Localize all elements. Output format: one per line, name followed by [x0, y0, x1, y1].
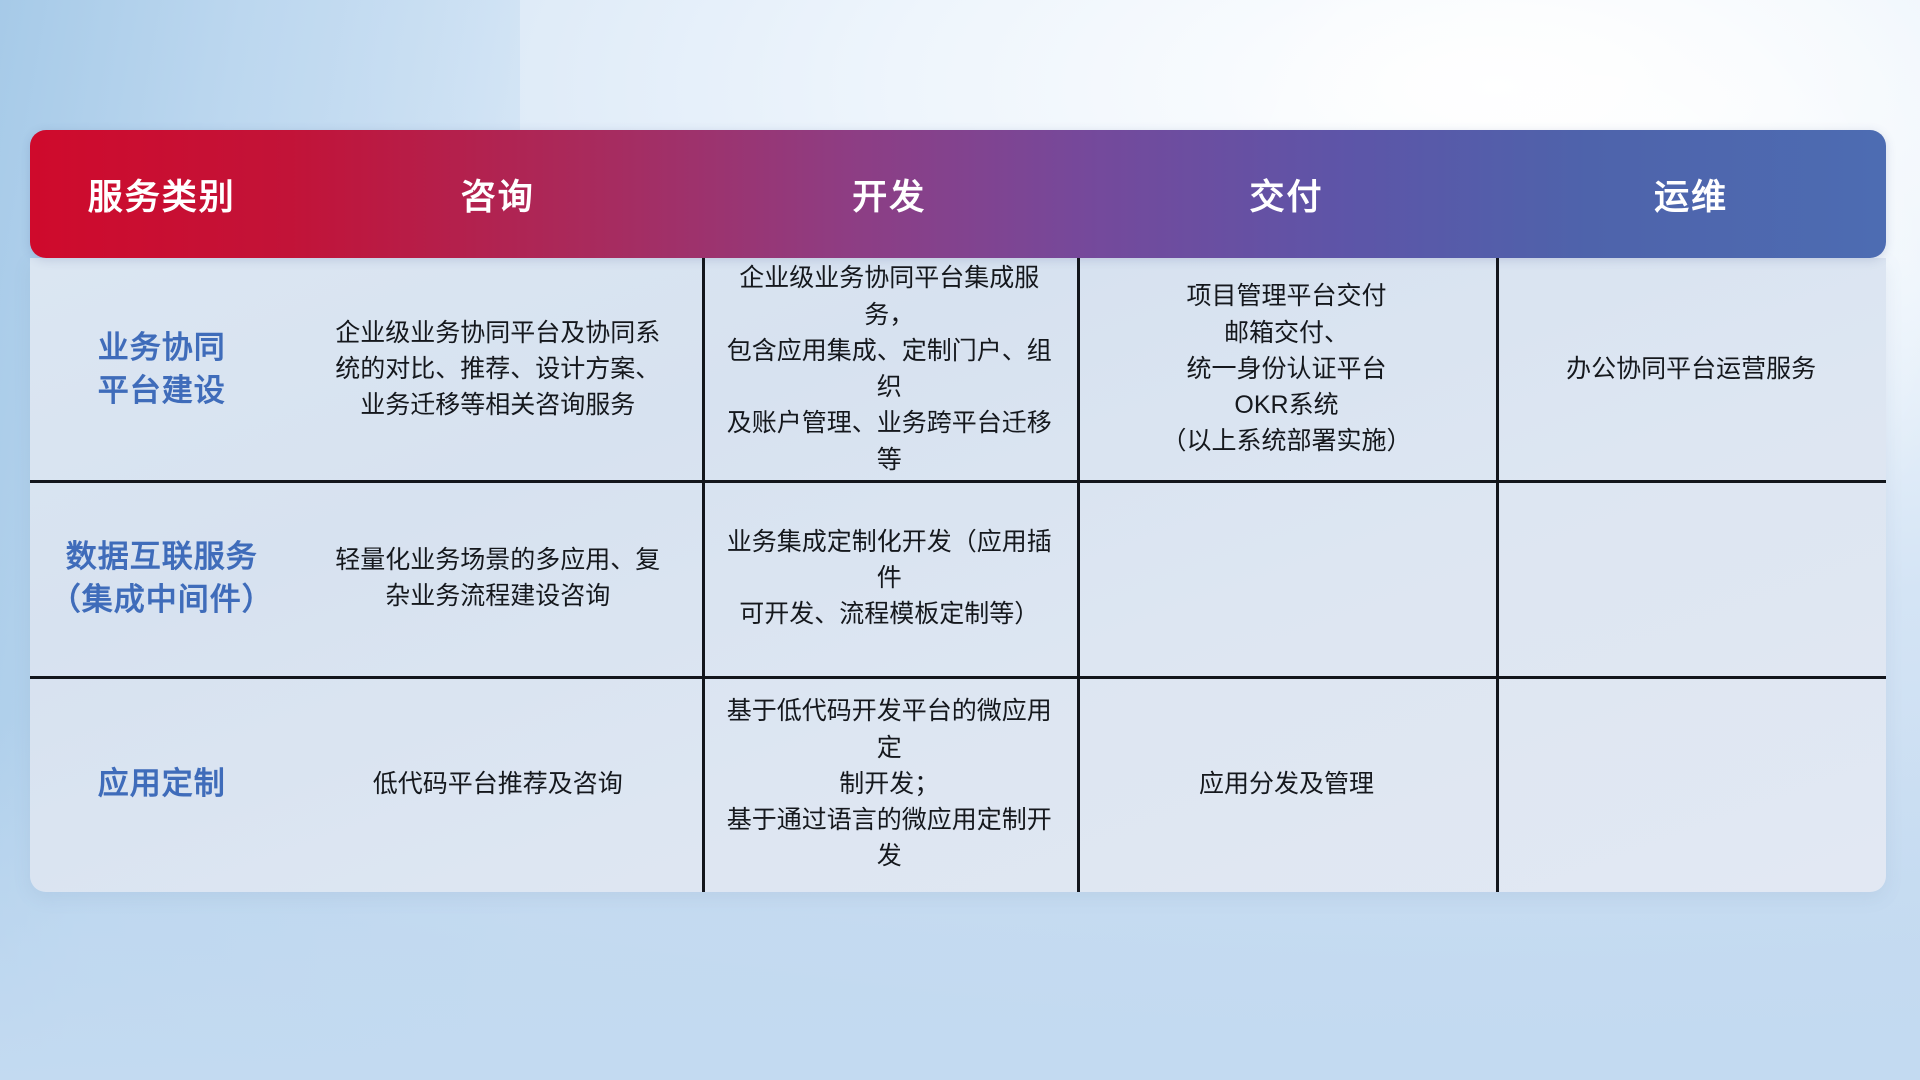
column-header-category: 服务类别 — [30, 130, 294, 258]
cell-delivery-row1: 项目管理平台交付 邮箱交付、 统一身份认证平台 OKR系统 （以上系统部署实施） — [1077, 258, 1496, 480]
service-matrix-table: 服务类别 咨询 开发 交付 运维 业务协同 平台建设 企业级业务协同平台及协同系… — [30, 130, 1886, 892]
column-header-consulting: 咨询 — [294, 130, 702, 258]
table-header-row: 服务类别 咨询 开发 交付 运维 — [30, 130, 1886, 258]
cell-consulting-row1: 企业级业务协同平台及协同系 统的对比、推荐、设计方案、 业务迁移等相关咨询服务 — [294, 258, 702, 480]
table-body: 业务协同 平台建设 企业级业务协同平台及协同系 统的对比、推荐、设计方案、 业务… — [30, 258, 1886, 892]
cell-development-row2: 业务集成定制化开发（应用插件 可开发、流程模板定制等） — [702, 480, 1077, 676]
cell-delivery-row3: 应用分发及管理 — [1077, 676, 1496, 892]
column-header-delivery: 交付 — [1077, 130, 1496, 258]
cell-consulting-row2: 轻量化业务场景的多应用、复 杂业务流程建设咨询 — [294, 480, 702, 676]
table-row: 数据互联服务 （集成中间件） 轻量化业务场景的多应用、复 杂业务流程建设咨询 业… — [30, 480, 1886, 676]
column-header-operations: 运维 — [1496, 130, 1886, 258]
cell-development-row3: 基于低代码开发平台的微应用定 制开发； 基于通过语言的微应用定制开发 — [702, 676, 1077, 892]
column-header-development: 开发 — [702, 130, 1077, 258]
row-label-app-customization: 应用定制 — [30, 676, 294, 892]
table-row: 业务协同 平台建设 企业级业务协同平台及协同系 统的对比、推荐、设计方案、 业务… — [30, 258, 1886, 480]
cell-operations-row2 — [1496, 480, 1886, 676]
cell-operations-row3 — [1496, 676, 1886, 892]
table-row: 应用定制 低代码平台推荐及咨询 基于低代码开发平台的微应用定 制开发； 基于通过… — [30, 676, 1886, 892]
cell-delivery-row2 — [1077, 480, 1496, 676]
row-label-business-collaboration: 业务协同 平台建设 — [30, 258, 294, 480]
cell-consulting-row3: 低代码平台推荐及咨询 — [294, 676, 702, 892]
cell-development-row1: 企业级业务协同平台集成服务， 包含应用集成、定制门户、组织 及账户管理、业务跨平… — [702, 258, 1077, 480]
cell-operations-row1: 办公协同平台运营服务 — [1496, 258, 1886, 480]
row-label-data-integration: 数据互联服务 （集成中间件） — [30, 480, 294, 676]
